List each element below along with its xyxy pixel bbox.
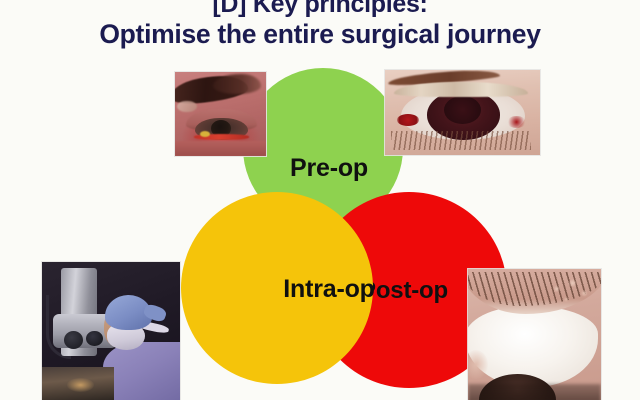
slide-canvas: [D] Key principles: Optimise the entire … <box>0 0 640 400</box>
title-line-1: [D] Key principles: <box>0 0 640 19</box>
photo-content <box>385 70 540 155</box>
lid-lesions <box>545 277 598 311</box>
crusted-lashes-eye-photo <box>385 70 540 155</box>
photo-content <box>175 72 266 156</box>
venn-label-post-op: Post-op <box>360 277 448 305</box>
lower-shadow <box>468 384 601 400</box>
surgeon-scrubs <box>103 342 180 400</box>
inflamed-red-eye-photo <box>175 72 266 156</box>
postop-eye-closeup-photo <box>468 269 601 400</box>
crusted-upper-lashes <box>394 82 527 97</box>
instrument-highlight <box>67 378 95 392</box>
title-line-2: Optimise the entire surgical journey <box>0 19 640 50</box>
surgeon-operating-microscope-photo <box>42 262 180 400</box>
cheek-layer <box>175 141 266 156</box>
venn-label-intra-op: Intra-op <box>283 275 374 304</box>
lower-lashes <box>391 131 531 150</box>
blood-spot-lateral <box>507 116 526 128</box>
eyebrow-highlight <box>213 74 260 94</box>
pupil <box>444 96 481 125</box>
photo-content <box>42 262 180 400</box>
microscope-eyepiece-right <box>86 331 103 346</box>
discharge-spot <box>200 131 210 137</box>
photo-content <box>468 269 601 400</box>
page-title: [D] Key principles: Optimise the entire … <box>0 0 640 50</box>
venn-label-pre-op: Pre-op <box>290 154 368 183</box>
lid-crust <box>177 101 197 113</box>
venn-circle-intra-op[interactable]: Intra-op <box>181 192 373 384</box>
